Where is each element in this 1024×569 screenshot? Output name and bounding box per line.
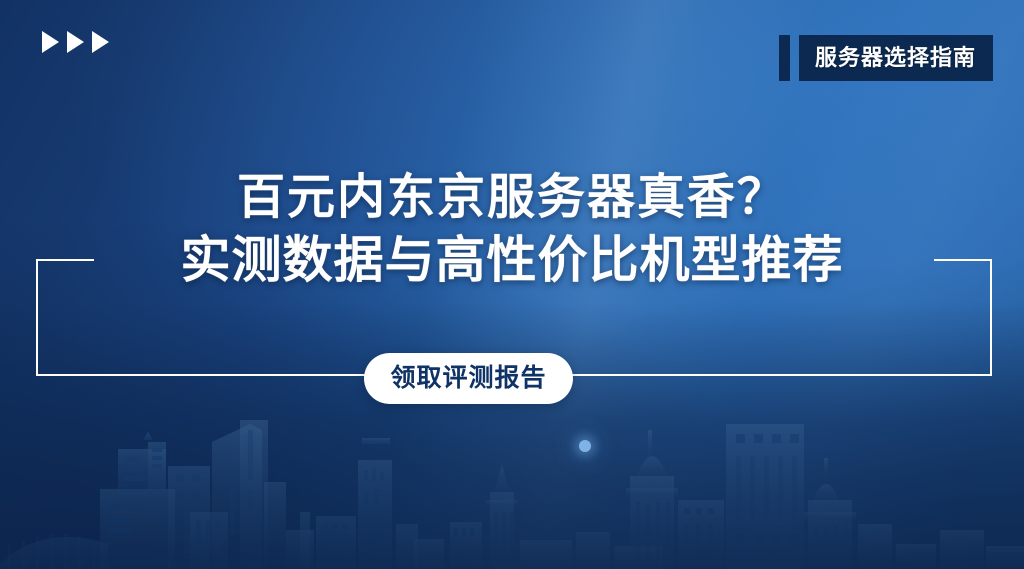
headline-block: 百元内东京服务器真香？ 实测数据与高性价比机型推荐: [0, 167, 1024, 292]
cta-button[interactable]: 领取评测报告: [364, 353, 573, 404]
badge-label: 服务器选择指南: [815, 47, 976, 69]
triangle-right-icon: [92, 31, 109, 53]
triangle-right-icon: [42, 31, 59, 53]
headline-line-1: 百元内东京服务器真香？: [0, 167, 1024, 228]
banner-stage: 服务器选择指南 百元内东京服务器真香？ 实测数据与高性价比机型推荐 领取评测报告: [0, 0, 1024, 569]
headline-line-2: 实测数据与高性价比机型推荐: [0, 228, 1024, 292]
corner-badge: 服务器选择指南: [779, 35, 993, 81]
cta-button-label: 领取评测报告: [390, 366, 546, 391]
bottom-dark-fade: [0, 302, 1024, 569]
badge-accent-bar: [779, 35, 790, 81]
glow-dot: [579, 440, 591, 452]
badge-box: 服务器选择指南: [799, 35, 993, 81]
chevron-group: [42, 31, 109, 53]
triangle-right-icon: [67, 31, 84, 53]
